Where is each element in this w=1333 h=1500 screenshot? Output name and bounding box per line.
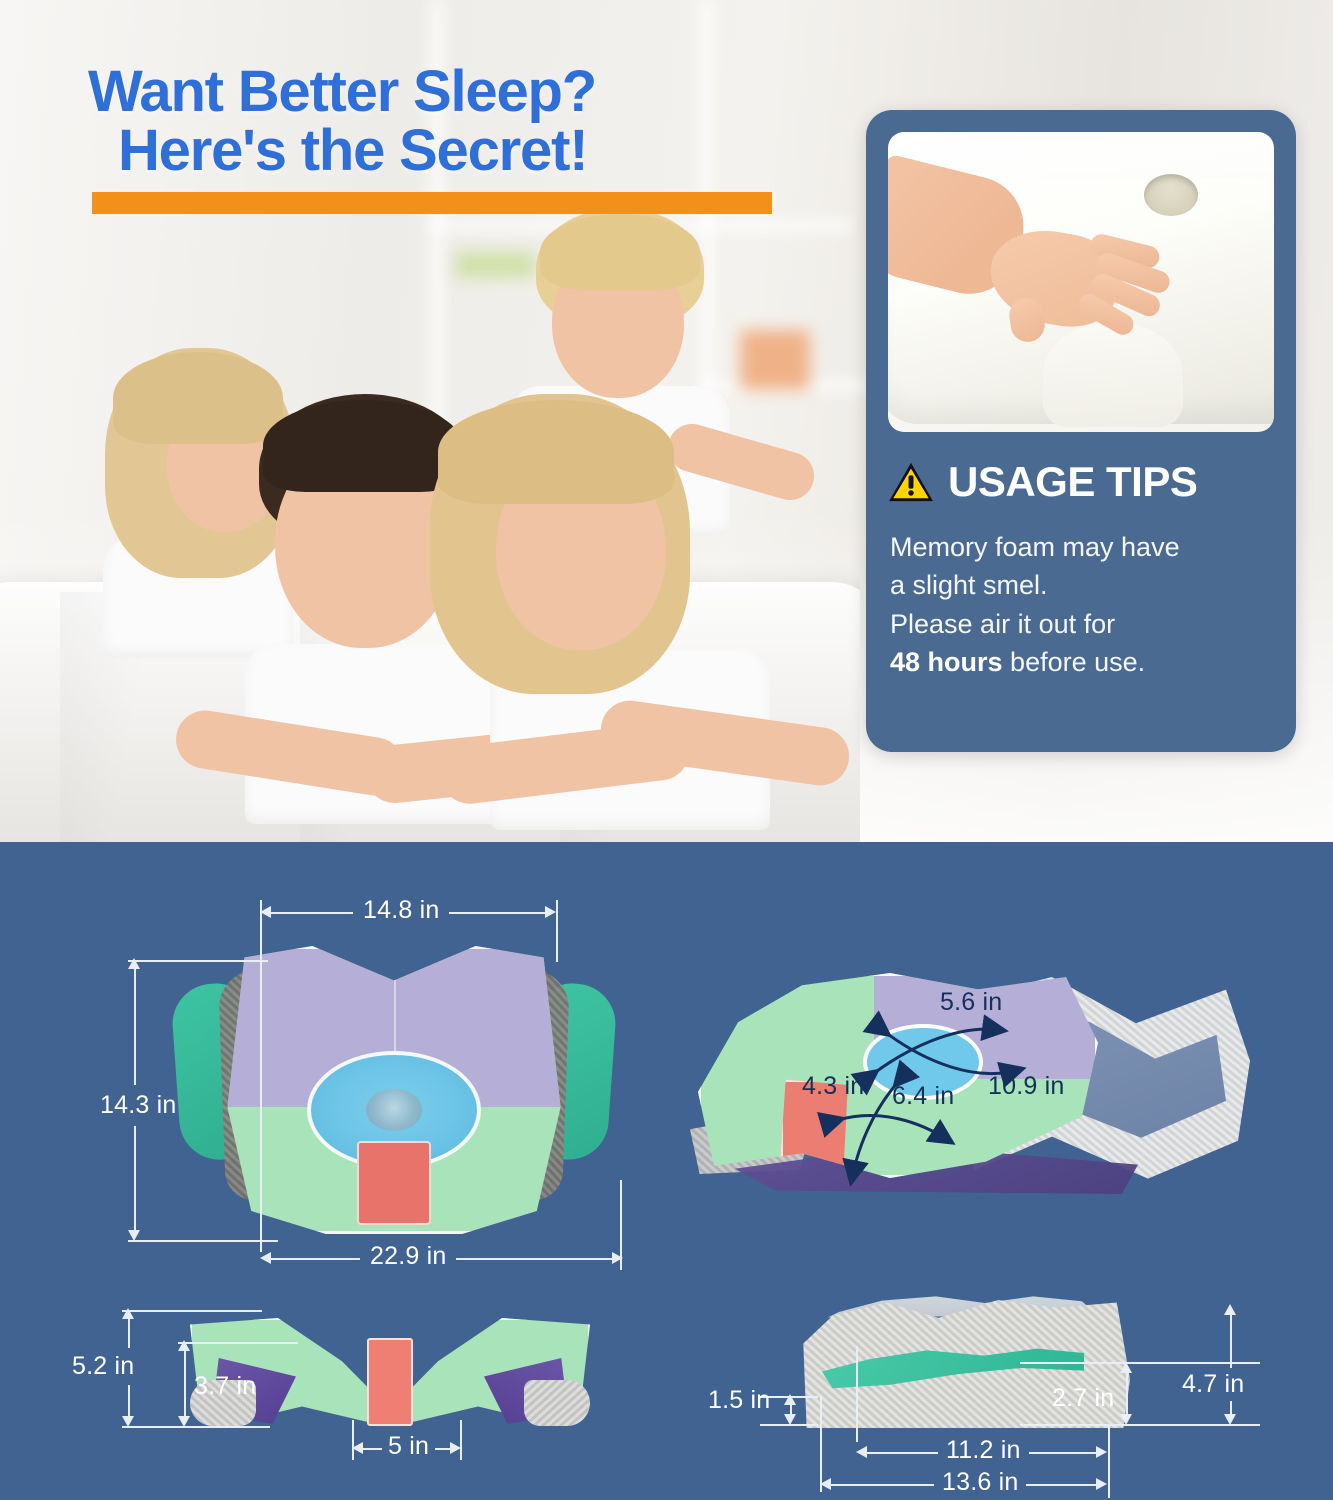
- headline-line-2: Here's the Secret!: [118, 121, 848, 180]
- dimline-top-right-ext: [556, 900, 558, 962]
- arrowhead-down: [1120, 1414, 1132, 1425]
- arrowhead-right: [450, 1442, 461, 1454]
- tips-body-line-1: Memory foam may have: [890, 528, 1278, 566]
- arrowhead-up: [1120, 1362, 1132, 1373]
- cradle-vent: [366, 1089, 422, 1131]
- dimline-top-left-ext: [260, 900, 262, 1252]
- dimline-front-inner-guide: [178, 1342, 298, 1344]
- mesh-foot-right: [524, 1380, 590, 1426]
- dimline-11-2-right-ext: [1108, 1424, 1110, 1498]
- pillow-top-view: [168, 938, 620, 1238]
- arrowhead-down: [784, 1414, 796, 1425]
- dimline-5in-right-ext: [460, 1420, 462, 1460]
- dimension-label-4-3: 4.3 in: [802, 1072, 864, 1101]
- dimline-h-top-guide: [128, 960, 268, 962]
- dimension-label-10-9: 10.9 in: [988, 1072, 1064, 1101]
- dimension-label-4-7: 4.7 in: [1176, 1368, 1250, 1401]
- usage-tips-body: Memory foam may have a slight smel. Plea…: [890, 528, 1278, 681]
- arrowhead-left: [856, 1446, 867, 1458]
- dimline-front-top-guide: [122, 1310, 262, 1312]
- pillow-side-profile-view: [800, 1300, 1130, 1440]
- arrowhead-right: [612, 1252, 623, 1264]
- arrowhead-up: [1224, 1304, 1236, 1315]
- arrowhead-down: [178, 1416, 190, 1427]
- tips-body-line-4: 48 hours before use.: [890, 643, 1278, 681]
- dimline-4-7-top-guide: [1020, 1362, 1260, 1364]
- dimension-label-3-7: 3.7 in: [194, 1372, 256, 1401]
- family-hero-photo: [0, 198, 860, 842]
- hero-section: Want Better Sleep? Here's the Secret!: [0, 0, 1333, 842]
- arrowhead-down: [1224, 1414, 1236, 1425]
- warning-triangle-icon: [888, 461, 934, 503]
- headline-line-1: Want Better Sleep?: [88, 62, 848, 121]
- dimension-label-1-5: 1.5 in: [708, 1386, 770, 1415]
- arrowhead-left: [820, 1478, 831, 1490]
- arrowhead-left: [260, 906, 271, 918]
- arrowhead-up: [122, 1308, 134, 1319]
- pillow-body-top: [224, 946, 564, 1234]
- headline-block: Want Better Sleep? Here's the Secret!: [88, 62, 848, 180]
- usage-tips-panel: USAGE TIPS Memory foam may have a slight…: [866, 110, 1296, 752]
- arrowhead-down: [122, 1416, 134, 1427]
- dimension-label-5-6: 5.6 in: [940, 988, 1002, 1017]
- arrowhead-left: [352, 1442, 363, 1454]
- dimension-label-11-2: 11.2 in: [938, 1436, 1029, 1465]
- tips-hours-bold: 48 hours: [890, 647, 1003, 677]
- arrowhead-left: [260, 1252, 271, 1264]
- usage-tips-title: USAGE TIPS: [948, 458, 1197, 506]
- dimline-4-7: [1230, 1310, 1232, 1418]
- dimension-label-6-4: 6.4 in: [892, 1082, 954, 1111]
- dimension-label-13-6: 13.6 in: [934, 1468, 1026, 1497]
- dimline-3-7: [184, 1348, 186, 1420]
- dimension-label-2-7: 2.7 in: [1052, 1384, 1114, 1413]
- red-center-strip: [367, 1338, 413, 1426]
- tips-body-line-3: Please air it out for: [890, 605, 1278, 643]
- foam-press-photo: [888, 132, 1274, 432]
- dimline-2-7: [1126, 1368, 1128, 1420]
- dimension-label-14-3: 14.3 in: [100, 1085, 176, 1126]
- pressing-hand: [890, 170, 1180, 355]
- tips-before-use: before use.: [1003, 647, 1146, 677]
- arrowhead-right: [1096, 1478, 1107, 1490]
- red-neck-zone: [357, 1141, 431, 1225]
- dimline-5in-left-ext: [352, 1420, 354, 1460]
- dimension-label-22-9: 22.9 in: [360, 1242, 456, 1271]
- arrowhead-up: [784, 1394, 796, 1405]
- arrowhead-down: [128, 1230, 140, 1241]
- dimension-label-5in: 5 in: [382, 1432, 435, 1461]
- headline-underline-bar: [92, 192, 772, 214]
- arrowhead-up: [128, 958, 140, 969]
- tips-body-line-2: a slight smel.: [890, 566, 1278, 604]
- arrowhead-up: [178, 1340, 190, 1351]
- arrowhead-right: [545, 906, 556, 918]
- dimline-front-bottom-guide: [122, 1426, 270, 1428]
- adult-mother: [410, 394, 810, 814]
- usage-tips-header: USAGE TIPS: [888, 458, 1197, 506]
- dimline-h-bottom-guide: [128, 1240, 278, 1242]
- dimension-label-5-2: 5.2 in: [72, 1348, 134, 1385]
- dimline-11-2-left-ext: [856, 1346, 858, 1442]
- arrowhead-right: [1096, 1446, 1107, 1458]
- dimension-label-14-8: 14.8 in: [353, 896, 449, 925]
